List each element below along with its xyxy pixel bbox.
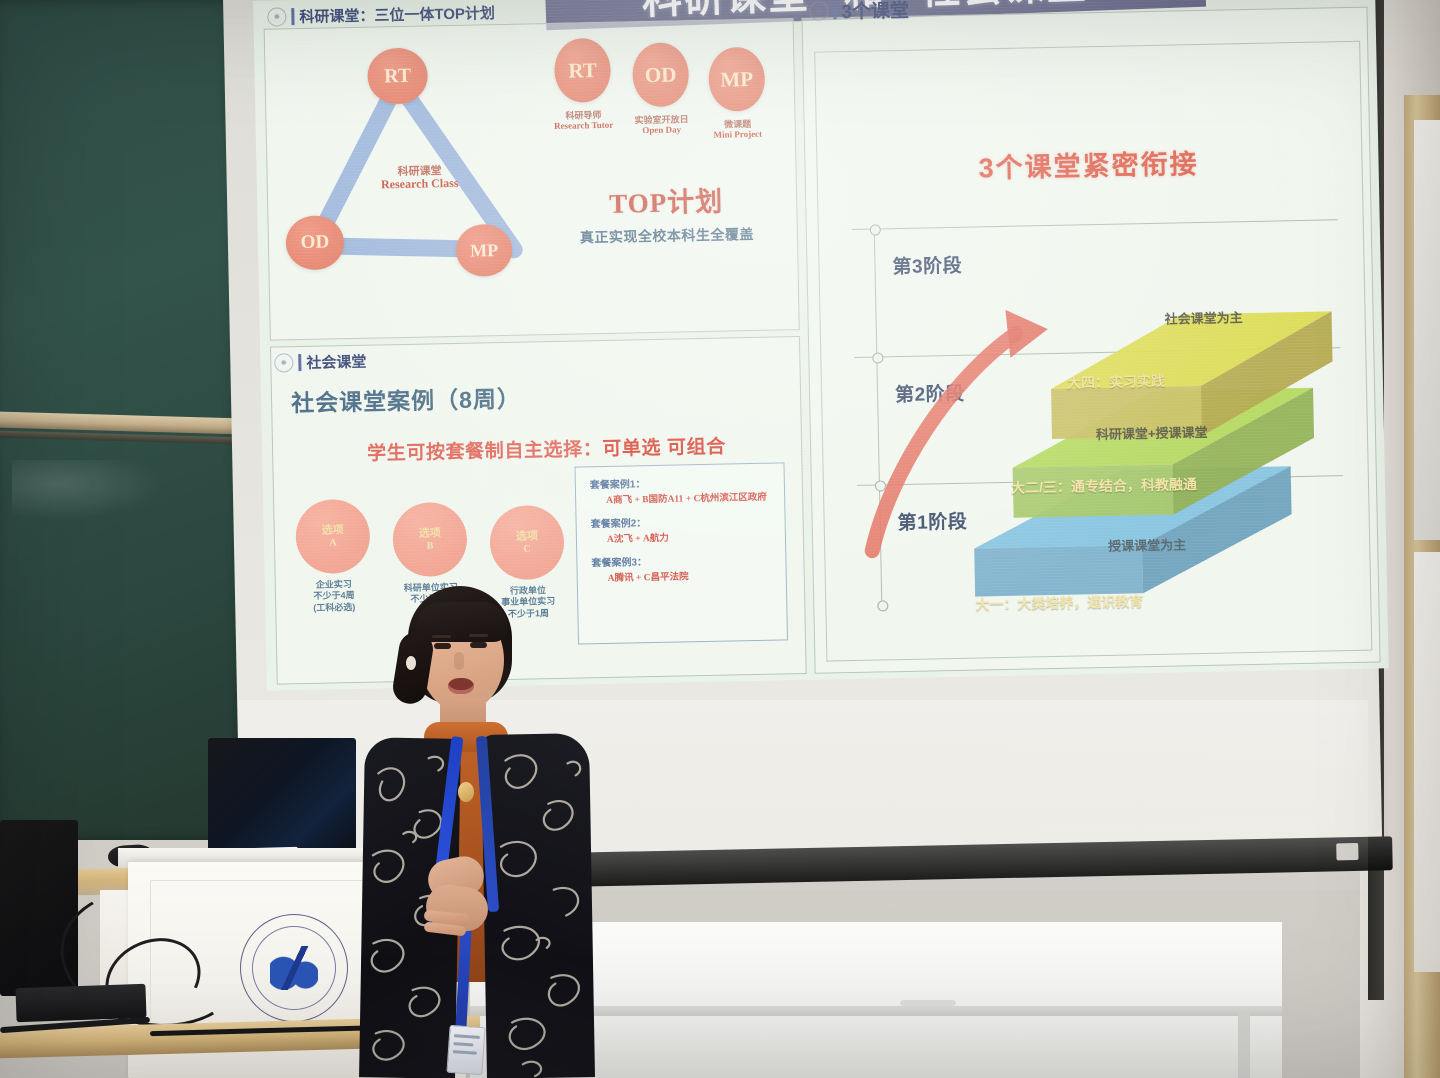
option-a-bubble: 选项 A [295, 499, 370, 574]
presenter-pendant [458, 782, 474, 802]
door-glass-lower [1414, 552, 1440, 972]
header-accent-bar [291, 8, 294, 25]
panel-research-header-text: 科研课堂：三位一体TOP计划 [299, 2, 495, 27]
header-accent-bar-3 [833, 2, 836, 19]
pillar-circle-mp: MP [708, 47, 765, 112]
layered-stack-diagram [818, 211, 1370, 632]
pillar-circle-rt: RT [554, 38, 611, 103]
university-seal-icon-3: ✹ [809, 1, 828, 20]
presenter-nose [454, 652, 464, 670]
door-glass-upper [1414, 120, 1440, 540]
top-plan-title: TOP计划 [557, 179, 776, 222]
presenter [362, 586, 592, 1078]
pillar-mp-en: Mini Project [692, 129, 784, 141]
panel-three-header: ✹ 3个课堂 [809, 0, 909, 25]
badge-line-2 [453, 1042, 473, 1046]
university-logo-mark-icon [270, 946, 318, 990]
triangle-center-label: 科研课堂 Research Class [354, 164, 484, 192]
option-a-top: 选项 [322, 525, 344, 538]
option-a-letter: A [329, 537, 336, 548]
growth-arrow-head [1005, 309, 1048, 358]
header-accent-bar-2 [298, 354, 301, 371]
option-a-caption: 企业实习 不少于4周 (工科必选) [297, 579, 372, 614]
option-c-top: 选项 [516, 531, 538, 544]
university-seal-icon: ✹ [267, 7, 286, 26]
layer-2-top-label: 科研课堂+授课课堂 [1096, 422, 1208, 443]
social-subtitle-main: 学生可按套餐制自主选择： [367, 439, 603, 465]
option-c-bubble: 选项 C [489, 505, 564, 580]
layer-1-top-label: 授课课堂为主 [1108, 534, 1186, 555]
panel-social-header: ✹ 社会课堂 [274, 351, 366, 374]
layer-3-top-label: 社会课堂为主 [1164, 307, 1242, 328]
presenter-fringe [416, 602, 508, 642]
panel-three-header-text: 3个课堂 [841, 0, 909, 24]
top-plan-block: TOP计划 真正实现全校本科生全覆盖 [557, 179, 776, 248]
layer-2-front-label: 大二/三：通专结合，科教融通 [1011, 474, 1197, 498]
case-1-value: A商飞 + B国防A11 + C杭州滨江区政府 [606, 488, 784, 506]
case-2-value: A沈飞 + A航力 [607, 527, 785, 545]
presenter-eye-left [434, 643, 451, 649]
white-table-leg [1238, 1010, 1250, 1078]
triangle-center-en: Research Class [355, 177, 485, 193]
option-c-letter: C [523, 543, 530, 554]
chalk-smudge [12, 460, 162, 520]
presenter-mouth [448, 678, 474, 694]
option-b-bubble: 选项 B [392, 502, 467, 577]
lecture-hall-photo: 科研课堂" 和 "社会课堂" ✹ 科研课堂：三位一体TOP计划 RT OD MP… [0, 0, 1440, 1078]
option-b-top: 选项 [419, 528, 441, 541]
social-subtitle-highlight: 可单选 可组合 [602, 437, 726, 460]
university-logo-inner [252, 926, 336, 1010]
presenter-earring [406, 656, 416, 670]
layer-1-front-label: 大一：大类培养，通识教育 [975, 591, 1143, 614]
presenter-brow-right [469, 634, 488, 637]
presenter-brow-left [432, 635, 451, 638]
pillar-circle-od: OD [632, 42, 689, 107]
case-3-value: A腾讯 + C昌平法院 [608, 566, 786, 584]
social-case-box: 套餐案例1： A商飞 + B国防A11 + C杭州滨江区政府 套餐案例2： A沈… [574, 462, 788, 644]
keyboard[interactable] [15, 984, 146, 1023]
presenter-badge [446, 1025, 485, 1075]
option-b-letter: B [427, 540, 434, 551]
badge-line-1 [454, 1034, 480, 1039]
university-logo-outer [240, 914, 348, 1022]
option-a: 选项 A 企业实习 不少于4周 (工科必选) [295, 499, 371, 614]
layer-3-front-label: 大四：实习实践 [1067, 371, 1165, 393]
panel-social-header-text: 社会课堂 [306, 351, 366, 373]
top-pillars-group: RT OD MP 科研导师 Research Tutor 实验室开放日 Open… [554, 35, 768, 159]
monitor-primary [208, 738, 356, 854]
social-case-title: 社会课堂案例（8周） [291, 380, 521, 419]
table-drawer-handle [900, 1000, 956, 1006]
university-seal-icon-2: ✹ [274, 353, 293, 372]
research-triangle-diagram: RT OD MP 科研课堂 Research Class [282, 45, 537, 300]
screen-pull-knob[interactable] [1336, 843, 1358, 860]
badge-line-3 [453, 1050, 477, 1055]
growth-arrow-curve [868, 334, 1020, 551]
pillar-caption-mp: 微课题 Mini Project [692, 118, 784, 141]
presenter-eye-right [470, 642, 487, 648]
